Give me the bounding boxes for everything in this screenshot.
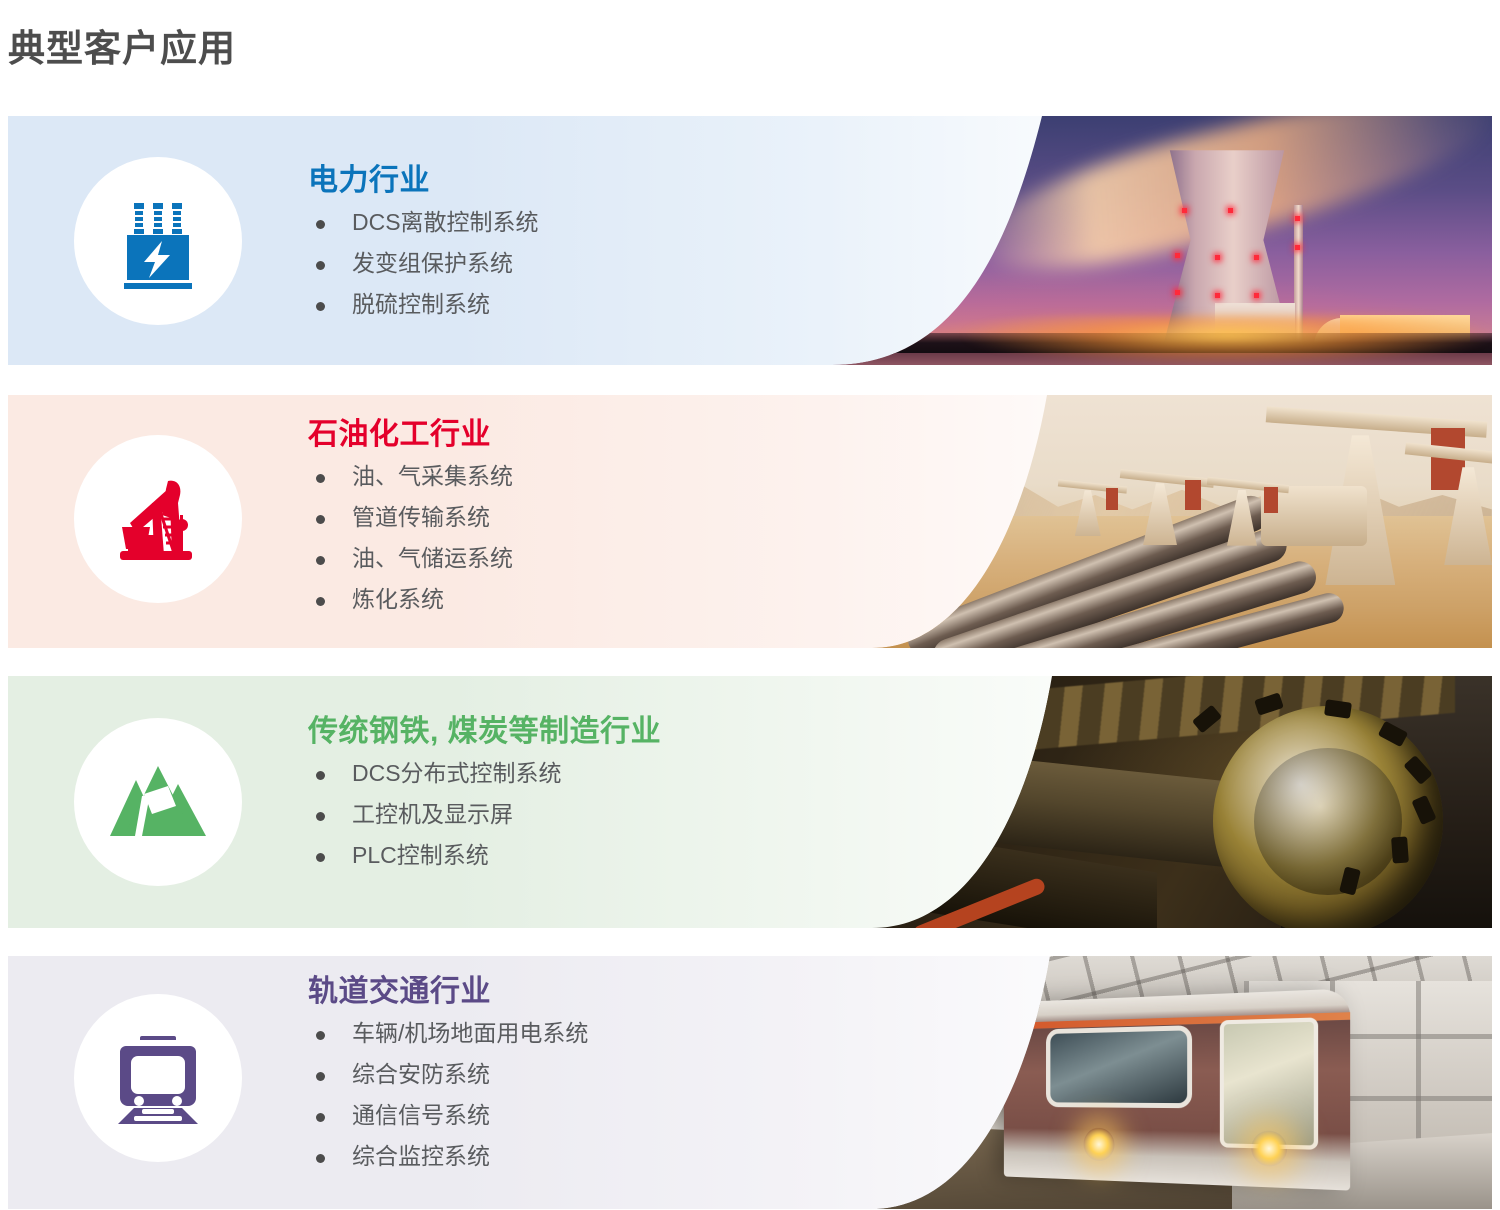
list-item: 车辆/机场地面用电系统 (308, 1022, 588, 1045)
list-item: 油、气储运系统 (308, 547, 513, 570)
list-item: 综合监控系统 (308, 1145, 588, 1168)
power-transformer-icon (74, 157, 242, 325)
feature-list: DCS分布式控制系统 工控机及显示屏 PLC控制系统 (308, 762, 661, 867)
card-heading: 石油化工行业 (308, 418, 513, 451)
mountain-pickaxe-icon (74, 718, 242, 886)
industry-card-manufacturing: 传统钢铁, 煤炭等制造行业 DCS分布式控制系统 工控机及显示屏 PLC控制系统 (8, 676, 1492, 928)
list-item: 通信信号系统 (308, 1104, 588, 1127)
oil-pumpjack-icon (74, 435, 242, 603)
list-item: DCS分布式控制系统 (308, 762, 661, 785)
card-heading: 轨道交通行业 (308, 975, 588, 1008)
feature-list: DCS离散控制系统 发变组保护系统 脱硫控制系统 (308, 211, 539, 316)
feature-list: 车辆/机场地面用电系统 综合安防系统 通信信号系统 综合监控系统 (308, 1022, 588, 1168)
card-content-petrochemical: 石油化工行业 油、气采集系统 管道传输系统 油、气储运系统 炼化系统 (308, 418, 513, 629)
list-item: 发变组保护系统 (308, 252, 539, 275)
typical-customer-applications-page: 典型客户应用 (0, 0, 1500, 1210)
list-item: PLC控制系统 (308, 844, 661, 867)
list-item: 管道传输系统 (308, 506, 513, 529)
page-title: 典型客户应用 (8, 27, 236, 71)
list-item: 工控机及显示屏 (308, 803, 661, 826)
card-content-rail-transit: 轨道交通行业 车辆/机场地面用电系统 综合安防系统 通信信号系统 综合监控系统 (308, 975, 588, 1186)
industry-card-petrochemical: 石油化工行业 油、气采集系统 管道传输系统 油、气储运系统 炼化系统 (8, 395, 1492, 648)
list-item: 炼化系统 (308, 588, 513, 611)
feature-list: 油、气采集系统 管道传输系统 油、气储运系统 炼化系统 (308, 465, 513, 611)
industry-card-power: 电力行业 DCS离散控制系统 发变组保护系统 脱硫控制系统 (8, 116, 1492, 365)
list-item: 脱硫控制系统 (308, 293, 539, 316)
industry-card-rail-transit: 轨道交通行业 车辆/机场地面用电系统 综合安防系统 通信信号系统 综合监控系统 (8, 956, 1492, 1209)
card-content-manufacturing: 传统钢铁, 煤炭等制造行业 DCS分布式控制系统 工控机及显示屏 PLC控制系统 (308, 715, 661, 885)
card-heading: 传统钢铁, 煤炭等制造行业 (308, 715, 661, 748)
list-item: 综合安防系统 (308, 1063, 588, 1086)
list-item: 油、气采集系统 (308, 465, 513, 488)
card-content-power: 电力行业 DCS离散控制系统 发变组保护系统 脱硫控制系统 (308, 164, 539, 334)
card-heading: 电力行业 (308, 164, 539, 197)
list-item: DCS离散控制系统 (308, 211, 539, 234)
metro-train-icon (74, 994, 242, 1162)
